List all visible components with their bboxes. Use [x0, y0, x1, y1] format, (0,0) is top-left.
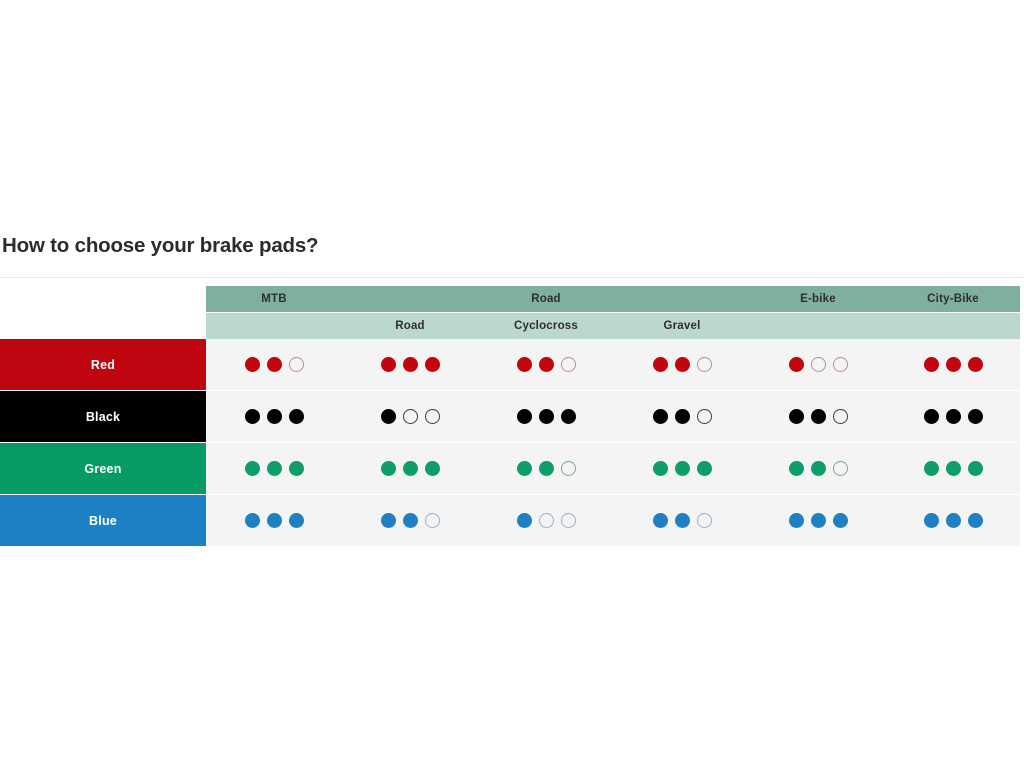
rating-dot-filled-icon — [924, 357, 939, 372]
rating-dot-filled-icon — [946, 513, 961, 528]
rating-cell-black-gravel — [614, 391, 750, 442]
rating-dot-filled-icon — [539, 461, 554, 476]
rating-dot-filled-icon — [403, 461, 418, 476]
rating-dot-empty-icon — [811, 357, 826, 372]
rating-dots — [789, 461, 848, 476]
rating-dots — [924, 461, 983, 476]
rating-dot-empty-icon — [425, 409, 440, 424]
rating-dot-filled-icon — [289, 513, 304, 528]
rating-dots — [653, 409, 712, 424]
header-cell-e-bike: E-bike — [750, 286, 886, 312]
rating-dot-filled-icon — [924, 409, 939, 424]
rating-dot-filled-icon — [289, 409, 304, 424]
rating-dot-filled-icon — [539, 357, 554, 372]
subheader-cell-empty-4 — [750, 313, 886, 339]
rating-dot-filled-icon — [968, 513, 983, 528]
rating-dot-filled-icon — [653, 513, 668, 528]
rating-cell-red-road — [342, 339, 478, 390]
rating-cell-red-city-bike — [886, 339, 1020, 390]
rating-dots — [789, 409, 848, 424]
rating-cell-red-cyclocross — [478, 339, 614, 390]
rating-dot-empty-icon — [697, 513, 712, 528]
rating-dot-filled-icon — [289, 461, 304, 476]
rating-dot-filled-icon — [653, 409, 668, 424]
rating-dot-empty-icon — [425, 513, 440, 528]
rating-dot-filled-icon — [968, 461, 983, 476]
brake-pad-matrix-table: MTBRoadE-bikeCity-Bike RoadCyclocrossGra… — [0, 286, 1020, 546]
rating-dot-empty-icon — [833, 409, 848, 424]
rating-cell-black-mtb — [206, 391, 342, 442]
rating-dot-filled-icon — [245, 513, 260, 528]
rating-dot-filled-icon — [789, 461, 804, 476]
rating-cell-black-e-bike — [750, 391, 886, 442]
row-label-red[interactable]: Red — [0, 339, 206, 390]
rating-cell-black-city-bike — [886, 391, 1020, 442]
subheader-cell-empty-5 — [886, 313, 1020, 339]
subheader-cell-gravel: Gravel — [614, 313, 750, 339]
rating-dot-filled-icon — [924, 461, 939, 476]
rating-dot-empty-icon — [561, 357, 576, 372]
rating-cell-green-mtb — [206, 443, 342, 494]
rating-dots — [653, 357, 712, 372]
rating-dots — [924, 409, 983, 424]
rating-dots — [517, 513, 576, 528]
rating-dots — [381, 461, 440, 476]
rating-dot-filled-icon — [381, 357, 396, 372]
rating-dot-filled-icon — [811, 409, 826, 424]
rating-dot-filled-icon — [811, 513, 826, 528]
rating-dots — [517, 409, 576, 424]
rating-dot-filled-icon — [789, 513, 804, 528]
rating-dot-filled-icon — [789, 357, 804, 372]
rating-dot-filled-icon — [968, 409, 983, 424]
rating-dot-filled-icon — [946, 461, 961, 476]
rating-cell-blue-cyclocross — [478, 495, 614, 546]
rating-dot-filled-icon — [517, 513, 532, 528]
rating-cell-green-cyclocross — [478, 443, 614, 494]
rating-cell-red-gravel — [614, 339, 750, 390]
rating-dot-empty-icon — [289, 357, 304, 372]
rating-dot-filled-icon — [267, 461, 282, 476]
rating-dot-filled-icon — [267, 513, 282, 528]
rating-dot-empty-icon — [833, 461, 848, 476]
table-row: Blue — [0, 495, 1020, 546]
rating-dot-filled-icon — [653, 357, 668, 372]
top-divider — [0, 277, 1024, 278]
page-root: How to choose your brake pads? MTBRoadE-… — [0, 0, 1024, 768]
rating-cell-black-cyclocross — [478, 391, 614, 442]
row-cells — [206, 495, 1020, 546]
rating-dots — [653, 513, 712, 528]
rating-dot-empty-icon — [403, 409, 418, 424]
rating-dot-filled-icon — [381, 513, 396, 528]
table-row: Red — [0, 339, 1020, 390]
rating-dot-filled-icon — [675, 357, 690, 372]
header-cell-road: Road — [342, 286, 750, 312]
rating-dot-filled-icon — [381, 409, 396, 424]
rating-dot-filled-icon — [245, 409, 260, 424]
rating-dot-filled-icon — [425, 357, 440, 372]
rating-dot-filled-icon — [267, 357, 282, 372]
header-cell-city-bike: City-Bike — [886, 286, 1020, 312]
rating-cell-blue-city-bike — [886, 495, 1020, 546]
rating-dot-filled-icon — [675, 513, 690, 528]
rating-dot-empty-icon — [561, 461, 576, 476]
rating-dot-filled-icon — [517, 409, 532, 424]
rating-dot-filled-icon — [811, 461, 826, 476]
rating-dot-empty-icon — [697, 357, 712, 372]
rating-cell-blue-road — [342, 495, 478, 546]
rating-cell-blue-e-bike — [750, 495, 886, 546]
row-label-blue[interactable]: Blue — [0, 495, 206, 546]
table-row: Green — [0, 443, 1020, 494]
subheader-cell-empty-0 — [206, 313, 342, 339]
rating-dot-filled-icon — [561, 409, 576, 424]
rating-dots — [245, 513, 304, 528]
rating-dots — [245, 461, 304, 476]
rating-dot-filled-icon — [968, 357, 983, 372]
rating-dot-filled-icon — [539, 409, 554, 424]
rating-dots — [517, 461, 576, 476]
subheader-cell-road: Road — [342, 313, 478, 339]
rating-dot-filled-icon — [789, 409, 804, 424]
subheader-cell-cyclocross: Cyclocross — [478, 313, 614, 339]
rating-dot-filled-icon — [517, 461, 532, 476]
rating-dot-filled-icon — [675, 409, 690, 424]
rating-dot-filled-icon — [924, 513, 939, 528]
page-title: How to choose your brake pads? — [2, 234, 318, 258]
rating-dots — [924, 513, 983, 528]
rating-dot-empty-icon — [561, 513, 576, 528]
rating-dot-filled-icon — [675, 461, 690, 476]
rating-dot-empty-icon — [833, 357, 848, 372]
rating-dot-filled-icon — [267, 409, 282, 424]
rating-cell-green-road — [342, 443, 478, 494]
rating-cell-green-gravel — [614, 443, 750, 494]
rating-dot-filled-icon — [381, 461, 396, 476]
rating-cell-blue-mtb — [206, 495, 342, 546]
row-label-black[interactable]: Black — [0, 391, 206, 442]
rating-dot-empty-icon — [697, 409, 712, 424]
rating-cell-green-city-bike — [886, 443, 1020, 494]
rating-dot-filled-icon — [946, 357, 961, 372]
rating-dots — [245, 409, 304, 424]
rating-dot-empty-icon — [539, 513, 554, 528]
rating-dots — [789, 357, 848, 372]
table-body: RedBlackGreenBlue — [0, 339, 1020, 546]
rating-dot-filled-icon — [403, 513, 418, 528]
rating-cell-red-mtb — [206, 339, 342, 390]
rating-cell-green-e-bike — [750, 443, 886, 494]
rating-dot-filled-icon — [425, 461, 440, 476]
rating-cell-red-e-bike — [750, 339, 886, 390]
rating-dot-filled-icon — [946, 409, 961, 424]
table-header-secondary: RoadCyclocrossGravel — [206, 313, 1020, 339]
rating-dot-filled-icon — [517, 357, 532, 372]
row-cells — [206, 391, 1020, 442]
rating-dots — [381, 357, 440, 372]
rating-dots — [517, 357, 576, 372]
table-row: Black — [0, 391, 1020, 442]
row-cells — [206, 339, 1020, 390]
rating-dots — [381, 513, 440, 528]
rating-dots — [245, 357, 304, 372]
rating-dot-filled-icon — [403, 357, 418, 372]
row-label-green[interactable]: Green — [0, 443, 206, 494]
rating-dots — [381, 409, 440, 424]
rating-cell-blue-gravel — [614, 495, 750, 546]
rating-dots — [653, 461, 712, 476]
rating-dot-filled-icon — [833, 513, 848, 528]
rating-dot-filled-icon — [245, 461, 260, 476]
rating-dots — [789, 513, 848, 528]
table-header-primary: MTBRoadE-bikeCity-Bike — [206, 286, 1020, 312]
rating-dot-filled-icon — [245, 357, 260, 372]
rating-cell-black-road — [342, 391, 478, 442]
rating-dots — [924, 357, 983, 372]
row-cells — [206, 443, 1020, 494]
rating-dot-filled-icon — [653, 461, 668, 476]
header-cell-mtb: MTB — [206, 286, 342, 312]
rating-dot-filled-icon — [697, 461, 712, 476]
